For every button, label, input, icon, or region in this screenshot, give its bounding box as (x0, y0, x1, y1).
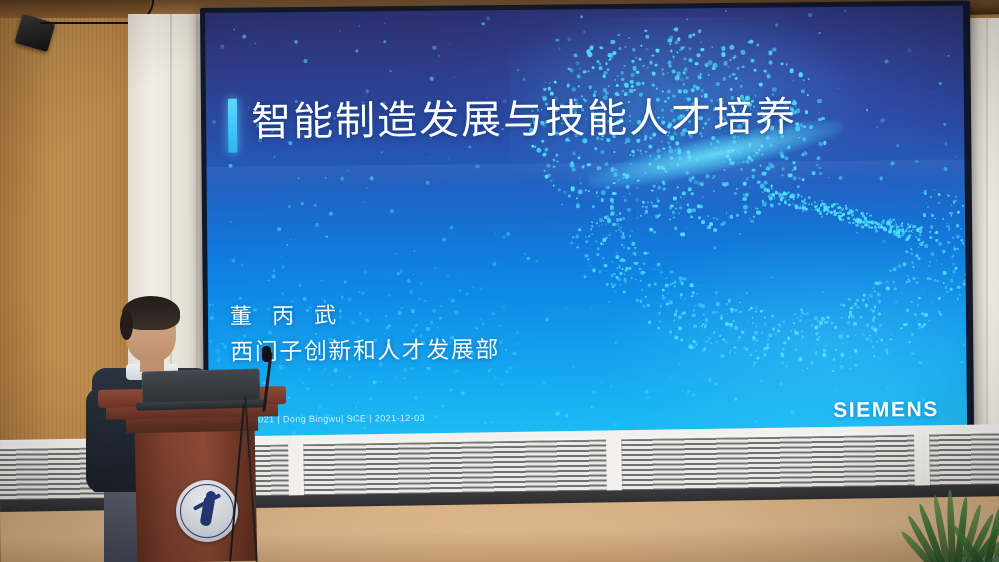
particle-dot (900, 327, 903, 330)
particle-dot (918, 327, 920, 329)
particle-dot (267, 279, 269, 281)
particle-dot (962, 343, 965, 346)
particle-dot (836, 203, 838, 205)
particle-dot (318, 405, 322, 409)
particle-dot (790, 331, 792, 333)
particle-dot (662, 73, 665, 76)
particle-dot (399, 269, 403, 273)
particle-dot (847, 298, 850, 301)
particle-dot (688, 188, 692, 192)
particle-dot (800, 309, 803, 312)
particle-dot (771, 276, 773, 278)
slide-presenter-name: 董 丙 武 (230, 298, 344, 331)
particle-dot (694, 305, 695, 306)
particle-dot (674, 40, 678, 44)
particle-dot (814, 352, 817, 355)
particle-dot (606, 270, 608, 272)
particle-dot (885, 59, 889, 63)
particle-dot (708, 337, 711, 340)
particle-dot (835, 390, 837, 392)
particle-dot (701, 220, 705, 224)
particle-dot (939, 242, 943, 246)
particle-dot (476, 164, 480, 168)
particle-dot (786, 365, 788, 367)
particle-dot (793, 161, 795, 163)
particle-dot (585, 189, 587, 191)
particle-dot (629, 267, 632, 270)
particle-dot (922, 289, 924, 291)
particle-dot (380, 156, 381, 157)
particle-dot (746, 348, 749, 351)
particle-dot (954, 195, 956, 197)
particle-dot (661, 276, 662, 277)
particle-dot (591, 407, 593, 409)
particle-dot (670, 50, 673, 53)
particle-dot (697, 294, 698, 295)
particle-dot (755, 326, 757, 328)
particle-dot (683, 46, 686, 49)
particle-dot (647, 303, 650, 306)
particle-dot (788, 203, 792, 207)
particle-dot (613, 273, 616, 276)
particle-dot (838, 334, 842, 338)
particle-dot (791, 410, 795, 414)
particle-dot (679, 206, 682, 209)
particle-dot (729, 350, 731, 352)
particle-dot (442, 405, 445, 408)
particle-dot (576, 235, 579, 238)
particle-dot (800, 359, 802, 361)
particle-dot (461, 392, 464, 395)
particle-dot (775, 201, 777, 203)
particle-dot (798, 73, 803, 78)
particle-dot (739, 302, 740, 303)
particle-dot (822, 291, 824, 293)
particle-dot (855, 223, 859, 227)
particle-dot (741, 168, 743, 170)
particle-dot (623, 273, 625, 275)
particle-dot (720, 354, 724, 358)
particle-dot (357, 402, 358, 403)
particle-dot (689, 58, 693, 62)
particle-dot (410, 290, 413, 293)
particle-dot (923, 241, 924, 242)
particle-dot (803, 314, 804, 315)
particle-dot (733, 55, 736, 58)
particle-dot (216, 349, 220, 353)
particle-dot (642, 206, 644, 208)
particle-dot (755, 208, 757, 210)
particle-dot (867, 297, 869, 299)
particle-dot (742, 66, 744, 68)
particle-dot (287, 396, 290, 399)
particle-dot (440, 305, 442, 307)
particle-dot (620, 78, 624, 82)
particle-dot (303, 59, 307, 63)
particle-dot (343, 280, 346, 283)
particle-dot (461, 389, 463, 391)
particle-dot (629, 193, 631, 195)
particle-dot (615, 230, 617, 232)
particle-dot (699, 322, 700, 323)
particle-dot (281, 292, 284, 295)
particle-dot (848, 221, 851, 224)
particle-dot (762, 171, 767, 176)
particle-dot (657, 200, 660, 203)
institution-emblem (176, 480, 238, 542)
particle-dot (502, 306, 504, 308)
particle-dot (687, 204, 690, 207)
emblem-figure-head (206, 491, 216, 501)
particle-dot (221, 45, 225, 49)
particle-dot (948, 228, 951, 231)
particle-dot (508, 366, 512, 370)
particle-dot (624, 46, 626, 48)
particle-dot (732, 72, 736, 76)
particle-dot (953, 201, 956, 204)
particle-dot (294, 40, 298, 44)
particle-dot (769, 61, 773, 65)
particle-dot (711, 46, 713, 48)
particle-dot (889, 270, 891, 272)
particle-dot (705, 174, 710, 179)
particle-dot (430, 77, 434, 81)
particle-dot (669, 376, 672, 379)
particle-dot (822, 353, 826, 357)
particle-dot (756, 44, 759, 47)
particle-dot (840, 353, 844, 357)
particle-dot (801, 153, 804, 156)
particle-dot (376, 429, 378, 431)
particle-dot (900, 224, 903, 227)
particle-dot (673, 280, 677, 284)
particle-dot (575, 61, 579, 65)
particle-dot (603, 220, 605, 222)
particle-dot (916, 228, 919, 231)
particle-dot (751, 59, 755, 63)
particle-dot (739, 311, 741, 313)
particle-dot (882, 226, 885, 229)
particle-dot (707, 225, 711, 229)
particle-dot (783, 341, 786, 344)
particle-dot (764, 323, 766, 325)
particle-dot (698, 75, 702, 79)
particle-dot (841, 209, 843, 211)
particle-dot (961, 361, 964, 364)
particle-dot (729, 323, 733, 327)
particle-dot (956, 155, 958, 157)
particle-dot (693, 325, 697, 329)
particle-dot (760, 310, 763, 313)
particle-dot (629, 235, 631, 237)
particle-dot (903, 263, 907, 267)
particle-dot (618, 47, 621, 50)
particle-dot (735, 77, 738, 80)
particle-dot (691, 295, 693, 297)
particle-dot (707, 350, 709, 352)
particle-dot (825, 345, 827, 347)
particle-dot (683, 57, 686, 60)
particle-dot (793, 199, 795, 201)
particle-dot (920, 226, 922, 228)
particle-dot (555, 411, 559, 415)
particle-dot (383, 41, 386, 44)
particle-dot (881, 328, 883, 330)
particle-dot (609, 234, 612, 237)
particle-dot (856, 317, 858, 319)
particle-dot (549, 82, 551, 84)
particle-dot (712, 190, 714, 192)
particle-dot (812, 171, 816, 175)
particle-dot (622, 217, 625, 220)
particle-dot (589, 265, 591, 267)
particle-dot (411, 366, 415, 370)
particle-dot (482, 322, 485, 325)
particle-dot (372, 380, 376, 384)
particle-dot (780, 193, 783, 196)
particle-dot (591, 390, 595, 394)
particle-dot (953, 270, 956, 273)
particle-dot (455, 369, 458, 372)
particle-dot (906, 323, 908, 325)
particle-dot (641, 289, 643, 291)
particle-dot (348, 297, 352, 301)
particle-dot (902, 233, 905, 236)
particle-dot (910, 301, 912, 303)
particle-dot (939, 82, 942, 85)
particle-dot (578, 67, 581, 70)
particle-dot (705, 319, 708, 322)
particle-dot (306, 387, 310, 391)
particle-dot (768, 195, 770, 197)
particle-dot (403, 377, 405, 379)
particle-dot (761, 331, 763, 333)
particle-dot (480, 318, 482, 320)
particle-dot (624, 198, 628, 202)
particle-dot (601, 224, 603, 226)
particle-dot (631, 230, 633, 232)
particle-dot (851, 214, 854, 217)
particle-dot (892, 282, 894, 284)
particle-dot (826, 315, 830, 319)
particle-dot (608, 301, 610, 303)
particle-dot (756, 180, 760, 184)
particle-dot (495, 378, 497, 380)
particle-dot (799, 319, 802, 322)
particle-dot (460, 400, 462, 402)
particle-dot (745, 192, 749, 196)
particle-dot (647, 201, 649, 203)
particle-dot (281, 425, 283, 427)
particle-dot (591, 233, 593, 235)
particle-dot (831, 322, 833, 324)
particle-dot (481, 22, 485, 26)
particle-dot (733, 346, 736, 349)
particle-dot (865, 337, 869, 341)
particle-dot (623, 246, 626, 249)
particle-dot (803, 79, 805, 81)
particle-dot (632, 48, 636, 52)
particle-dot (325, 177, 327, 179)
particle-dot (577, 74, 581, 78)
particle-dot (634, 247, 636, 249)
particle-dot (570, 187, 575, 192)
particle-dot (844, 372, 846, 374)
particle-dot (277, 227, 281, 231)
particle-dot (700, 41, 701, 42)
particle-dot (635, 198, 639, 202)
particle-dot (231, 259, 235, 263)
particle-dot (847, 321, 851, 325)
particle-dot (366, 187, 368, 189)
particle-dot (716, 341, 718, 343)
particle-dot (698, 285, 699, 286)
particle-dot (930, 196, 932, 198)
particle-dot (613, 283, 616, 286)
particle-dot (640, 300, 643, 303)
particle-dot (608, 85, 610, 87)
particle-dot (616, 84, 619, 87)
presenter-hair-side (120, 310, 133, 340)
particle-dot (658, 312, 660, 314)
particle-dot (850, 306, 854, 310)
particle-dot (818, 27, 819, 28)
particle-dot (863, 294, 866, 297)
particle-dot (802, 210, 804, 212)
particle-dot (298, 379, 300, 381)
particle-dot (917, 257, 920, 260)
particle-dot (690, 336, 692, 338)
particle-dot (363, 426, 366, 429)
particle-dot (707, 215, 710, 218)
particle-dot (609, 58, 611, 60)
particle-dot (437, 326, 440, 329)
particle-dot (623, 291, 625, 293)
particle-dot (895, 300, 898, 303)
particle-dot (750, 354, 752, 356)
particle-dot (634, 278, 636, 280)
particle-dot (951, 204, 952, 205)
particle-dot (606, 283, 609, 286)
particle-dot (725, 9, 728, 12)
particle-dot (907, 257, 908, 258)
particle-dot (755, 307, 758, 310)
particle-dot (659, 320, 662, 323)
particle-dot (273, 155, 276, 158)
particle-dot (651, 202, 653, 204)
particle-dot (948, 55, 950, 57)
particle-dot (596, 253, 599, 256)
particle-dot (557, 161, 559, 163)
particle-dot (930, 225, 934, 229)
particle-dot (592, 268, 596, 272)
particle-dot (712, 311, 716, 315)
particle-dot (751, 175, 755, 179)
particle-dot (912, 277, 915, 280)
particle-dot (796, 359, 799, 362)
particle-dot (369, 397, 373, 401)
particle-dot (648, 321, 651, 324)
particle-dot (555, 153, 558, 156)
particle-dot (716, 82, 720, 86)
particle-dot (387, 294, 390, 297)
particle-dot (690, 283, 693, 286)
particle-dot (938, 202, 941, 205)
particle-dot (683, 277, 687, 281)
particle-dot (856, 232, 858, 234)
particle-dot (734, 326, 738, 330)
particle-dot (673, 197, 677, 201)
particle-dot (410, 309, 414, 313)
particle-dot (908, 225, 911, 228)
particle-dot (682, 304, 683, 305)
particle-dot (927, 277, 930, 280)
particle-dot (624, 269, 627, 272)
particle-dot (781, 354, 785, 358)
particle-dot (323, 368, 327, 372)
particle-dot (308, 370, 309, 371)
particle-dot (727, 65, 730, 68)
microphone-icon (262, 346, 271, 362)
particle-dot (797, 318, 799, 320)
particle-dot (879, 357, 880, 358)
particle-dot (622, 258, 624, 260)
particle-dot (591, 66, 594, 69)
particle-dot (637, 227, 639, 229)
particle-dot (698, 303, 702, 307)
particle-dot (418, 298, 420, 300)
particle-dot (434, 266, 437, 269)
particle-dot (618, 212, 621, 215)
particle-dot (572, 167, 576, 171)
particle-dot (708, 378, 712, 382)
particle-dot (645, 210, 648, 213)
particle-dot (570, 241, 574, 245)
particle-dot (918, 247, 919, 248)
particle-dot (692, 208, 696, 212)
particle-dot (756, 339, 758, 341)
particle-dot (415, 324, 418, 327)
particle-dot (410, 406, 412, 408)
particle-dot (439, 316, 442, 319)
particle-dot (704, 323, 707, 326)
particle-dot (924, 313, 928, 317)
particle-dot (752, 168, 756, 172)
particle-dot (906, 229, 907, 230)
particle-dot (734, 192, 737, 195)
particle-dot (363, 201, 365, 203)
particle-dot (703, 314, 704, 315)
particle-dot (647, 284, 650, 287)
particle-dot (959, 236, 960, 237)
particle-dot (658, 214, 661, 217)
particle-dot (794, 313, 796, 315)
particle-dot (796, 196, 798, 198)
particle-dot (878, 300, 881, 303)
particle-dot (849, 311, 853, 315)
particle-dot (637, 252, 638, 253)
particle-dot (672, 211, 676, 215)
particle-dot (619, 266, 620, 267)
particle-dot (233, 28, 235, 30)
particle-dot (678, 212, 680, 214)
particle-dot (801, 201, 803, 203)
particle-dot (826, 320, 829, 323)
particle-dot (799, 177, 801, 179)
particle-dot (329, 211, 333, 215)
particle-dot (804, 202, 807, 205)
particle-dot (673, 320, 675, 322)
